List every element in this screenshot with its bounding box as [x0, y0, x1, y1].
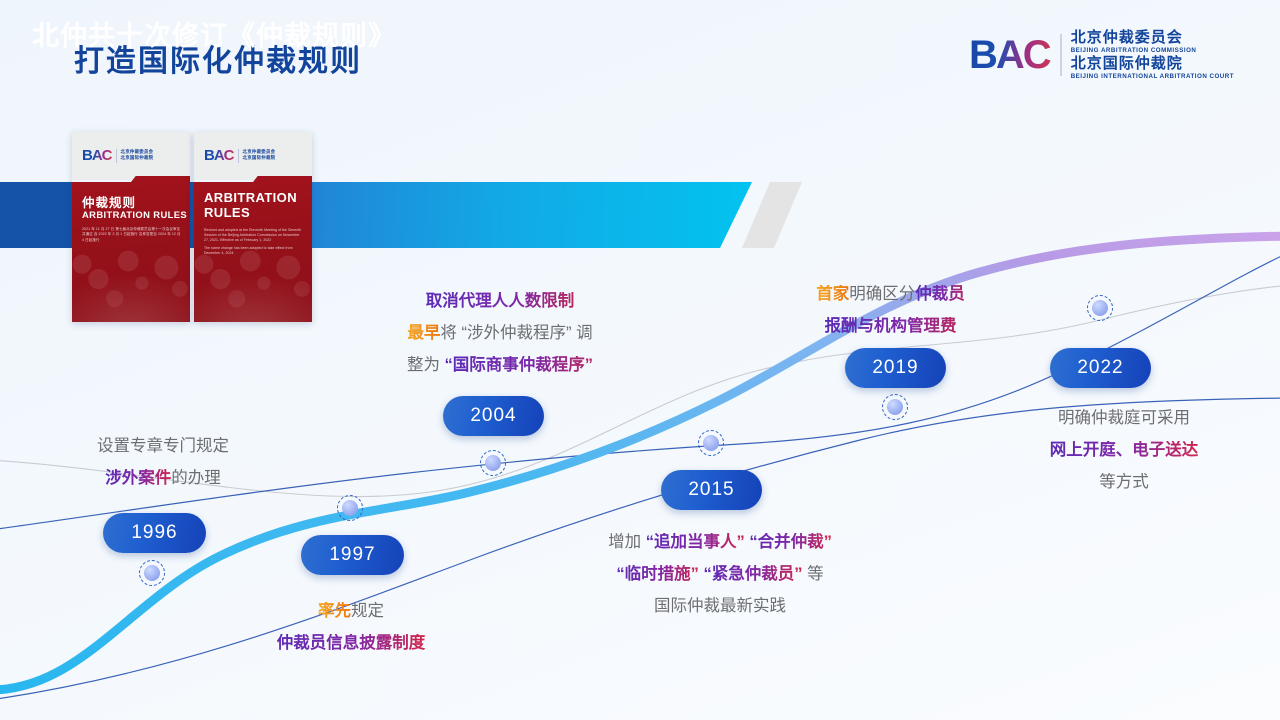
- text-run: 等方式: [1099, 473, 1149, 491]
- timeline-text-2019: 首家明确区分仲裁员报酬与机构管理费: [788, 278, 993, 342]
- timeline-pill-1996[interactable]: 1996: [103, 513, 206, 553]
- text-line: 国际仲裁最新实践: [560, 590, 880, 622]
- text-run: 将 “涉外仲裁程序” 调: [440, 324, 592, 342]
- text-run: 率先: [318, 602, 351, 620]
- text-run: “紧急仲裁员”: [704, 565, 803, 583]
- timeline-text-1997: 率先规定仲裁员信息披露制度: [262, 595, 440, 659]
- text-run: 规定: [351, 602, 384, 620]
- timeline-text-2022: 明确仲裁庭可采用网上开庭、电子送达等方式: [1022, 402, 1226, 499]
- text-line: 率先规定: [262, 595, 440, 627]
- timeline-node-dot-2022: [1087, 295, 1113, 321]
- timeline-pill-1997[interactable]: 1997: [301, 535, 404, 575]
- text-run: 整为: [407, 356, 445, 374]
- slide-canvas: 打造国际化仲裁规则 BAC 北京仲裁委员会 BEIJING ARBITRATIO…: [0, 0, 1280, 720]
- text-run: “合并仲裁”: [749, 533, 832, 551]
- text-run: “临时措施”: [616, 565, 699, 583]
- text-run: 报酬与机构管理费: [825, 317, 957, 335]
- text-line: 网上开庭、电子送达: [1022, 434, 1226, 466]
- timeline-node-dot-2015: [698, 430, 724, 456]
- timeline-text-2004: 取消代理人人数限制最早将 “涉外仲裁程序” 调整为 “国际商事仲裁程序”: [378, 285, 622, 382]
- text-run: 仲裁员信息披露制度: [277, 634, 426, 652]
- text-line: 报酬与机构管理费: [788, 310, 993, 342]
- text-run: 首家: [816, 285, 849, 303]
- text-run: 最早: [407, 324, 440, 342]
- text-line: 设置专章专门规定: [78, 430, 248, 462]
- text-run: 仲裁员: [915, 285, 965, 303]
- timeline-pill-2022[interactable]: 2022: [1050, 348, 1151, 388]
- timeline-node-dot-2019: [882, 394, 908, 420]
- timeline-node-dot-2004: [480, 450, 506, 476]
- text-line: 明确仲裁庭可采用: [1022, 402, 1226, 434]
- text-run: 的办理: [171, 469, 221, 487]
- timeline-pill-2015[interactable]: 2015: [661, 470, 762, 510]
- text-line: 最早将 “涉外仲裁程序” 调: [378, 317, 622, 349]
- text-line: 增加 “追加当事人” “合并仲裁”: [560, 526, 880, 558]
- text-line: 等方式: [1022, 466, 1226, 498]
- text-line: 整为 “国际商事仲裁程序”: [378, 349, 622, 381]
- text-line: 取消代理人人数限制: [378, 285, 622, 317]
- text-run: “追加当事人”: [646, 533, 745, 551]
- text-line: 涉外案件的办理: [78, 462, 248, 494]
- timeline-pill-2019[interactable]: 2019: [845, 348, 946, 388]
- text-run: “国际商事仲裁程序”: [445, 356, 594, 374]
- text-run: 设置专章专门规定: [97, 437, 229, 455]
- text-run: 明确仲裁庭可采用: [1058, 409, 1190, 427]
- timeline-text-2015: 增加 “追加当事人” “合并仲裁”“临时措施” “紧急仲裁员” 等国际仲裁最新实…: [560, 526, 880, 623]
- text-run: 国际仲裁最新实践: [654, 597, 786, 615]
- timeline-node-dot-1997: [337, 495, 363, 521]
- timeline-text-1996: 设置专章专门规定涉外案件的办理: [78, 430, 248, 494]
- text-run: 等: [803, 565, 824, 583]
- text-line: 仲裁员信息披露制度: [262, 627, 440, 659]
- text-run: 涉外案件: [105, 469, 171, 487]
- text-line: 首家明确区分仲裁员: [788, 278, 993, 310]
- text-run: [699, 565, 704, 583]
- timeline-pill-2004[interactable]: 2004: [443, 396, 544, 436]
- text-run: 增加: [608, 533, 646, 551]
- text-run: 网上开庭、电子送达: [1050, 441, 1199, 459]
- text-run: 明确区分: [849, 285, 915, 303]
- timeline-node-dot-1996: [139, 560, 165, 586]
- text-run: 取消代理人人数限制: [426, 292, 575, 310]
- text-line: “临时措施” “紧急仲裁员” 等: [560, 558, 880, 590]
